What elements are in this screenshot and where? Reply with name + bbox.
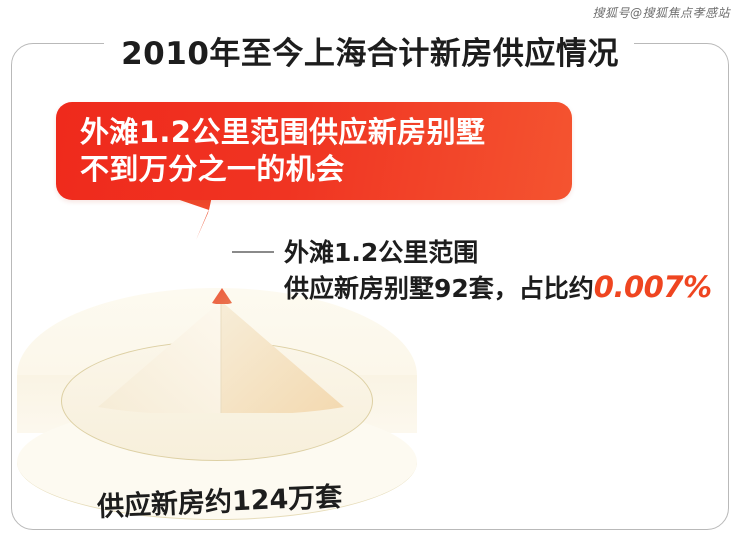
pyramid-body-icon <box>88 301 354 413</box>
watermark-text: 搜狐号@搜狐焦点孝感站 <box>592 4 730 21</box>
callout-line-2: 不到万分之一的机会 <box>80 151 485 188</box>
annotation-prefix: 供应新房别墅92套，占比约 <box>284 274 594 303</box>
red-callout-banner: 外滩1.2公里范围供应新房别墅 不到万分之一的机会 <box>56 102 572 200</box>
annotation-line-2: 供应新房别墅92套，占比约0.007% <box>284 270 712 306</box>
annotation-line-1: 外滩1.2公里范围 <box>284 236 712 270</box>
callout-text: 外滩1.2公里范围供应新房别墅 不到万分之一的机会 <box>80 114 485 188</box>
callout-line-1: 外滩1.2公里范围供应新房别墅 <box>80 114 485 151</box>
page-title: 2010年至今上海合计新房供应情况 <box>0 28 740 73</box>
leader-line <box>232 251 274 253</box>
pyramid-red-tip-icon <box>211 288 233 304</box>
annotation-block: 外滩1.2公里范围 供应新房别墅92套，占比约0.007% <box>284 236 712 306</box>
callout-tail-icon <box>168 196 218 254</box>
annotation-percent-value: 0.007% <box>594 270 712 304</box>
